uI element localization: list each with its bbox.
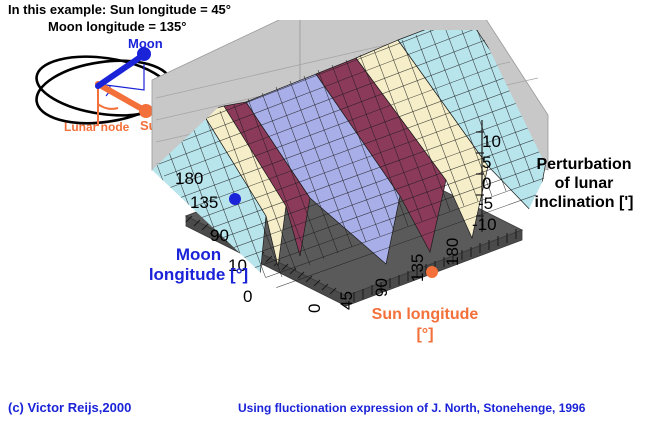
moon-tick-0: 0	[243, 287, 252, 307]
sun-tick-45: 45	[337, 291, 357, 310]
z-tick-minus-5: -5	[478, 194, 493, 214]
sun-tick-0: 0	[305, 304, 325, 313]
source-attribution: Using fluctionation expression of J. Nor…	[238, 401, 585, 415]
axis-title-moon-line2: longitude [°]	[146, 265, 251, 285]
axis-title-moon-longitude: Moon longitude [°]	[146, 245, 251, 285]
sun-tick-180: 180	[443, 238, 463, 266]
copyright-notice: (c) Victor Reijs,2000	[8, 400, 131, 415]
moon-tick-180: 180	[175, 169, 203, 189]
z-tick-0: 0	[482, 174, 491, 194]
axis-title-sun-line1: Sun longitude	[355, 305, 495, 325]
axis-title-z-line2: of lunar	[512, 174, 656, 193]
figure-root: In this example: Sun longitude = 45° Moo…	[0, 0, 658, 423]
axis-title-z-line3: inclination [']	[512, 193, 656, 212]
z-tick-10: 10	[482, 132, 501, 152]
axis-title-moon-line1: Moon	[146, 245, 251, 265]
sun-angle-arc	[98, 104, 118, 109]
orbit-label-lunar-node: Lunar node	[64, 120, 129, 134]
z-tick-5: 5	[482, 153, 491, 173]
sun-tick-90: 90	[372, 278, 392, 297]
example-caption-line-1: In this example: Sun longitude = 45°	[8, 2, 231, 17]
moon-longitude-marker	[229, 193, 241, 205]
sun-tick-135: 135	[408, 254, 428, 282]
moon-tick-135: 135	[190, 193, 218, 213]
axis-title-sun-line2: [°]	[355, 325, 495, 345]
moon-tick-90: 90	[210, 226, 229, 246]
z-tick-minus-10: -10	[472, 215, 497, 235]
axis-title-sun-longitude: Sun longitude [°]	[355, 305, 495, 345]
axis-title-perturbation: Perturbation of lunar inclination [']	[512, 155, 656, 212]
sun-vector	[98, 84, 144, 110]
axis-title-z-line1: Perturbation	[512, 155, 656, 174]
